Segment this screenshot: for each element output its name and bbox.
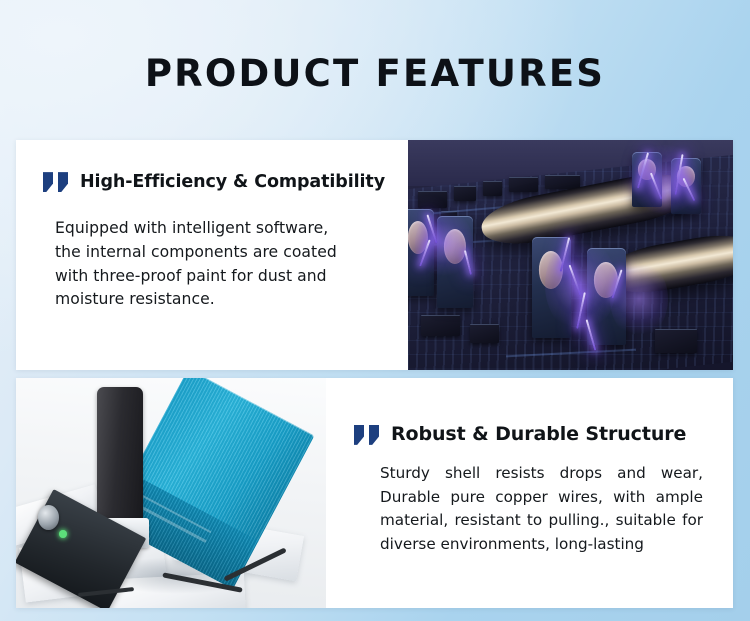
feature-1-media-pane — [408, 140, 733, 370]
feature-2-body: Sturdy shell resists drops and wear, Dur… — [380, 462, 703, 557]
feature-1-heading: High-Efficiency & Compatibility — [80, 172, 385, 192]
feature-2-heading-row: Robust & Durable Structure — [354, 424, 705, 446]
page-title-container: PRODUCT FEATURES — [0, 55, 750, 92]
feature-card-1-text-pane: High-Efficiency & Compatibility Equipped… — [16, 140, 408, 370]
circuit-board-capacitors-image — [408, 140, 733, 370]
page-title: PRODUCT FEATURES — [0, 55, 750, 92]
inverter-handle — [97, 387, 144, 530]
blue-aluminium-inverter-image — [16, 378, 326, 608]
feature-card-1: High-Efficiency & Compatibility Equipped… — [16, 140, 733, 370]
feature-1-body: Equipped with intelligent software, the … — [55, 217, 388, 312]
quote-mark-icon — [43, 172, 69, 192]
feature-card-2-inner: Robust & Durable Structure Sturdy shell … — [16, 378, 733, 608]
feature-card-2: Robust & Durable Structure Sturdy shell … — [16, 378, 733, 608]
feature-card-1-inner: High-Efficiency & Compatibility Equipped… — [16, 140, 733, 370]
inverter-status-led — [59, 530, 66, 538]
inverter-terminal-knob — [38, 505, 60, 530]
feature-2-heading: Robust & Durable Structure — [391, 424, 686, 446]
quote-mark-icon — [354, 425, 380, 445]
feature-2-media-pane — [16, 378, 326, 608]
product-features-page: PRODUCT FEATURES High-Efficiency & Compa… — [0, 0, 750, 621]
feature-card-2-text-pane: Robust & Durable Structure Sturdy shell … — [326, 378, 733, 608]
feature-1-heading-row: High-Efficiency & Compatibility — [43, 172, 388, 192]
